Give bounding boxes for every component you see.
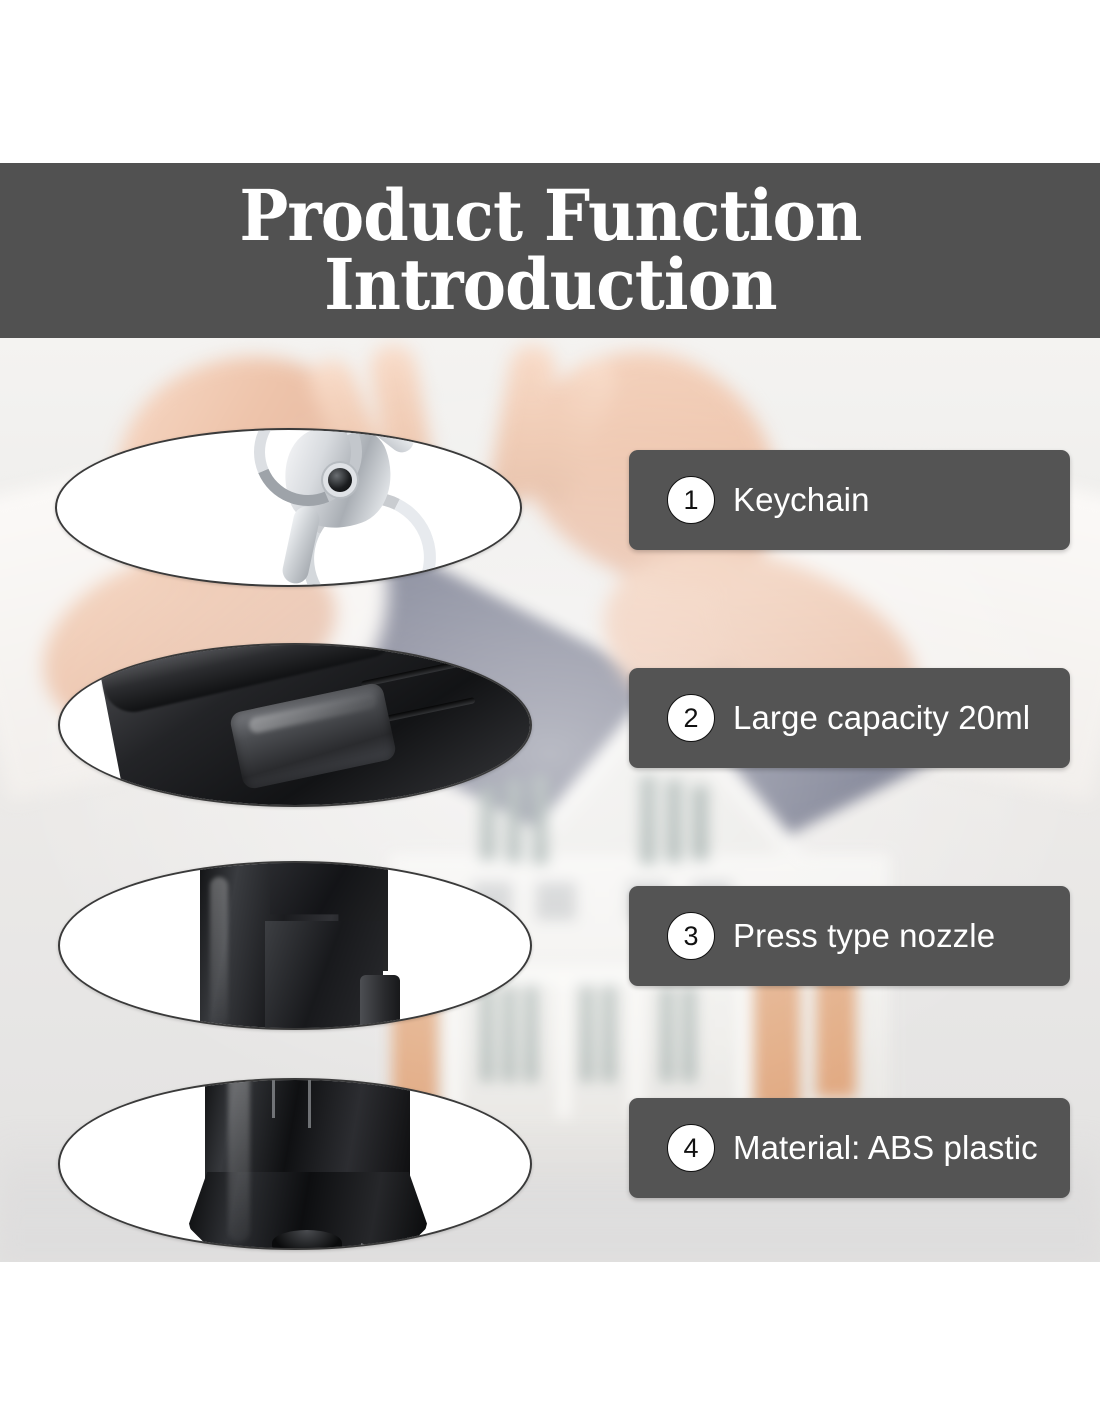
top-margin [0, 0, 1100, 163]
feature-photo-keychain-clasp [55, 428, 522, 587]
base-highlight [228, 1078, 250, 1242]
base-slit [308, 1078, 311, 1128]
keychain-clasp-illustration [242, 428, 452, 587]
feature-photo-abs-base [58, 1078, 532, 1250]
page-title-line-2: Introduction [239, 251, 861, 320]
nozzle-highlight [210, 877, 228, 1027]
feature-pill-3[interactable]: 3 Press type nozzle [629, 886, 1070, 986]
page-title: Product Function Introduction [220, 182, 879, 319]
feature-photo-bottle-body [58, 643, 532, 807]
base-slit [272, 1078, 275, 1118]
feature-badge-4: 4 [667, 1124, 715, 1172]
feature-label-3: Press type nozzle [733, 917, 995, 955]
bottom-margin [0, 1262, 1100, 1422]
clasp-rivet [328, 468, 352, 492]
feature-badge-1: 1 [667, 476, 715, 524]
feature-pill-1[interactable]: 1 Keychain [629, 450, 1070, 550]
nozzle-stem [360, 975, 400, 1030]
header-bar: Product Function Introduction [0, 163, 1100, 338]
feature-pill-2[interactable]: 2 Large capacity 20ml [629, 668, 1070, 768]
feature-badge-3: 3 [667, 912, 715, 960]
base-notch [272, 1230, 342, 1250]
feature-label-4: Material: ABS plastic [733, 1129, 1038, 1167]
feature-photo-press-nozzle [58, 861, 532, 1030]
product-photo-stage: 1 Keychain 2 Large capacity 20ml 3 Press… [0, 338, 1100, 1262]
feature-pill-4[interactable]: 4 Material: ABS plastic [629, 1098, 1070, 1198]
feature-label-2: Large capacity 20ml [733, 699, 1030, 737]
feature-badge-2: 2 [667, 694, 715, 742]
feature-label-1: Keychain [733, 481, 870, 519]
